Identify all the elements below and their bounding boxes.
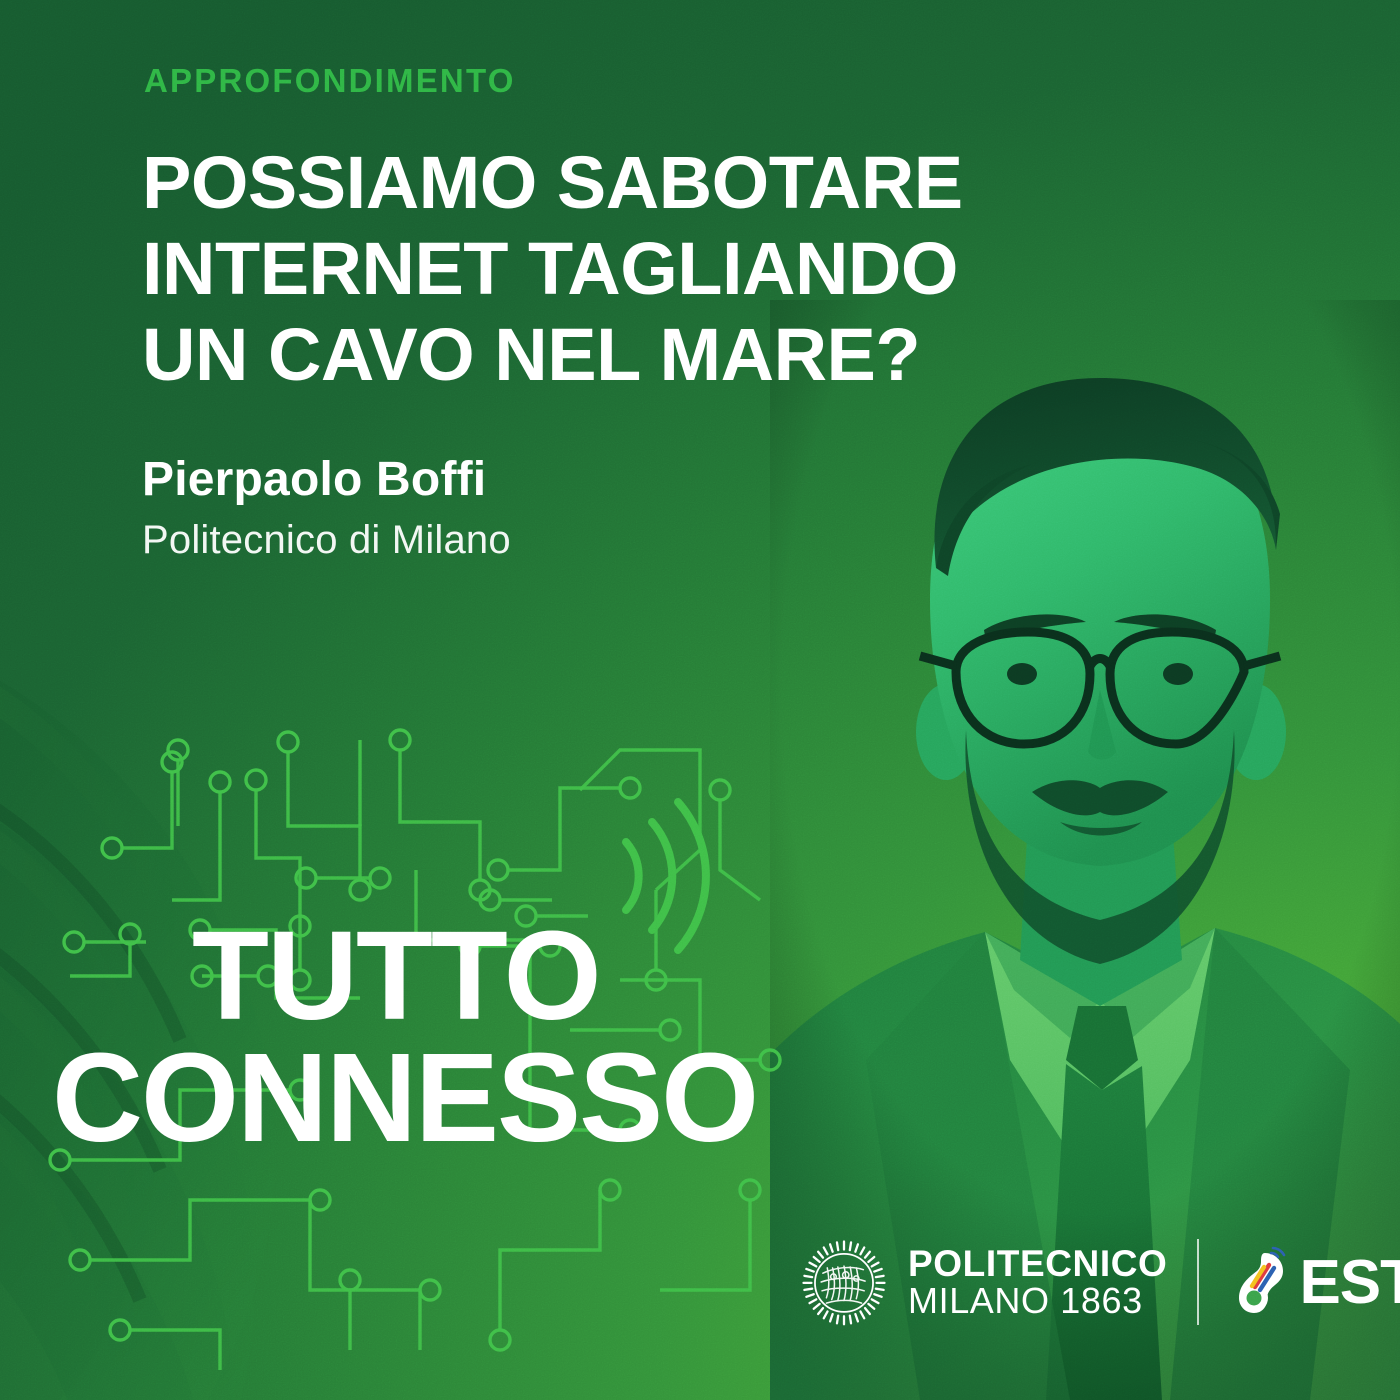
- kicker-label: APPROFONDIMENTO: [144, 62, 516, 100]
- show-logo-line-2: CONNESSO: [52, 1040, 752, 1156]
- title-line-1: POSSIAMO SABOTARE: [142, 140, 1002, 226]
- show-logo-line-1: TUTTO: [192, 918, 752, 1034]
- politecnico-line-2: MILANO 1863: [908, 1283, 1167, 1320]
- show-logo: TUTTO CONNESSO: [52, 918, 752, 1156]
- restart-logo: ESTART: [1229, 1243, 1400, 1321]
- politecnico-wordmark: POLITECNICO MILANO 1863: [908, 1245, 1167, 1319]
- politecnico-logo: POLITECNICO MILANO 1863: [800, 1238, 1167, 1326]
- episode-cover: APPROFONDIMENTO POSSIAMO SABOTARE INTERN…: [0, 0, 1400, 1400]
- title-line-3: UN CAVO NEL MARE?: [142, 312, 1002, 398]
- politecnico-seal-icon: [800, 1238, 888, 1326]
- footer-logos: POLITECNICO MILANO 1863: [800, 1238, 1400, 1326]
- politecnico-line-1: POLITECNICO: [908, 1245, 1167, 1283]
- restart-wordmark: ESTART: [1299, 1247, 1400, 1318]
- vertical-divider: [1197, 1239, 1199, 1325]
- page-title: POSSIAMO SABOTARE INTERNET TAGLIANDO UN …: [142, 140, 1002, 398]
- speaker-portrait: [770, 300, 1400, 1400]
- title-line-2: INTERNET TAGLIANDO: [142, 226, 1002, 312]
- speaker-affiliation: Politecnico di Milano: [142, 518, 511, 563]
- speaker-name: Pierpaolo Boffi: [142, 452, 486, 507]
- restart-logo-icon: [1229, 1243, 1301, 1321]
